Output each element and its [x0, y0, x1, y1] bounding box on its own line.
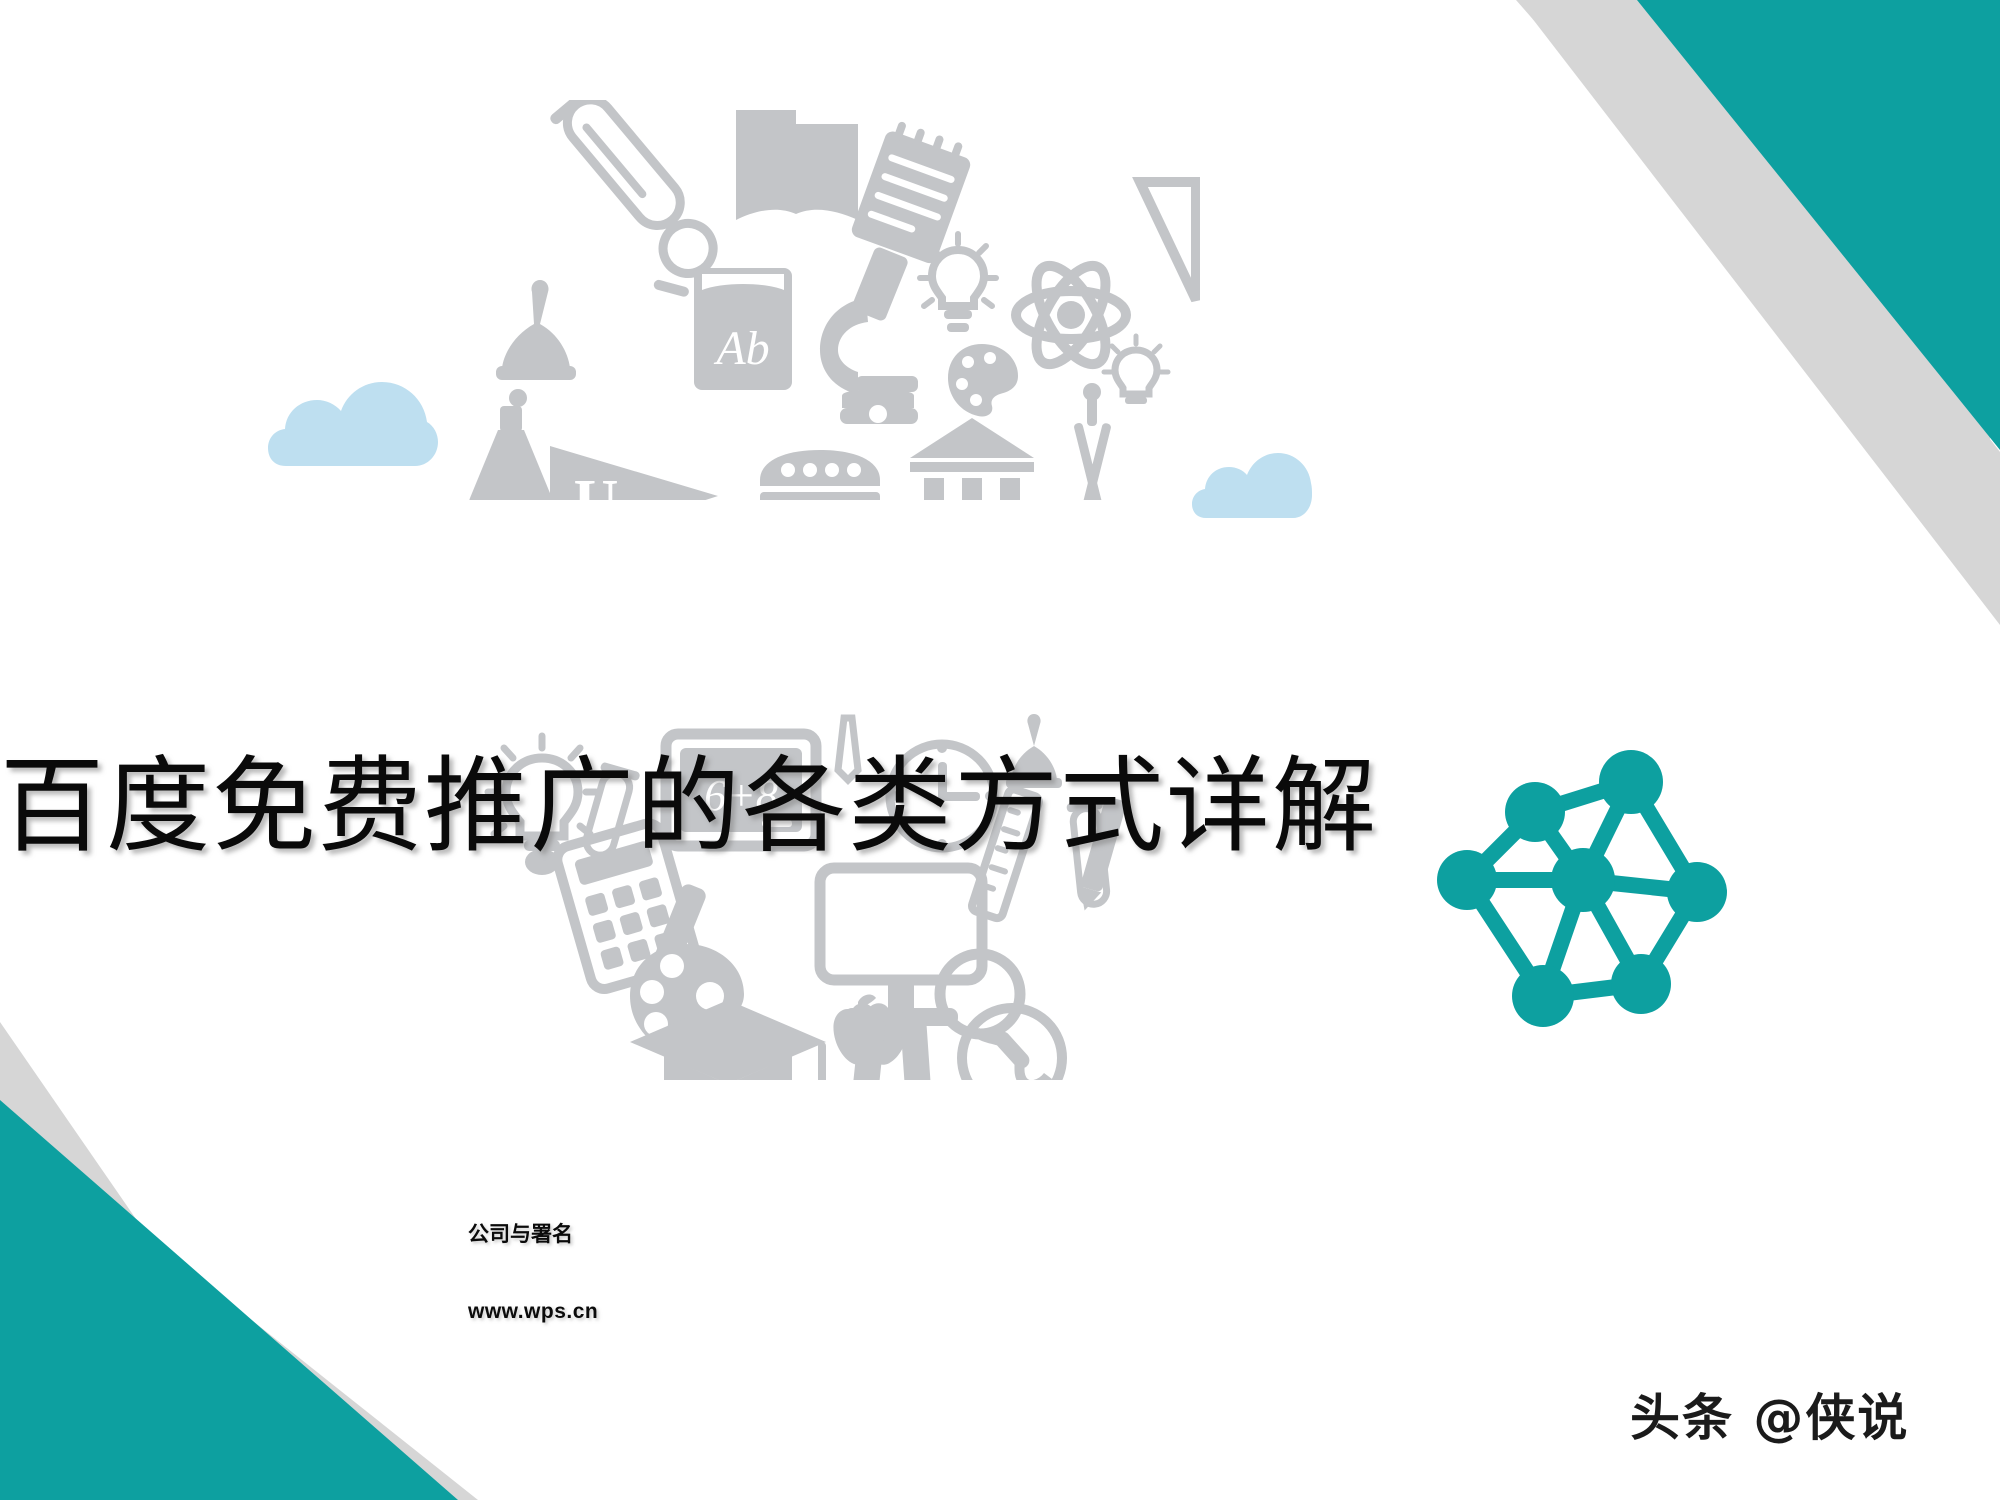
- magnifier-icon: [633, 215, 729, 309]
- website-url: www.wps.cn: [468, 1300, 598, 1324]
- globe-icon: [962, 1008, 1062, 1080]
- compass-icon: [1073, 383, 1112, 500]
- monitor-icon: [820, 868, 982, 1026]
- pennant-flag-icon: U: [550, 446, 718, 500]
- graduation-cap-icon: [630, 1000, 835, 1080]
- education-icons-top-cluster: Ab: [440, 100, 1200, 500]
- apple-icon: [458, 497, 524, 500]
- pen-icon: [642, 882, 708, 996]
- flask-icon: [469, 406, 553, 500]
- test-tube-icon: [548, 100, 694, 239]
- watermark-label: 头条 @侠说: [1630, 1378, 1909, 1450]
- bell-icon: [496, 280, 576, 407]
- notepad-icon: [850, 118, 977, 265]
- pencils-icon: [847, 1016, 935, 1080]
- lightbulb-icon: [920, 234, 996, 332]
- cloud-right-icon: [1192, 450, 1312, 520]
- cloud-left-icon: [268, 378, 438, 468]
- top-right-teal-wedge: [1637, 0, 2000, 450]
- svg-text:U: U: [574, 468, 619, 500]
- page-title: 百度免费推广的各类方式详解: [0, 748, 1290, 868]
- molecule-network-graphic: [1435, 740, 1745, 1040]
- bottom-left-teal-band: [0, 1180, 430, 1500]
- svg-text:Ab: Ab: [713, 322, 769, 375]
- school-bus-icon: [760, 450, 880, 500]
- atom-icon: [1016, 255, 1126, 374]
- magnifier-icon: [940, 954, 1033, 1072]
- bank-building-icon: [910, 418, 1034, 500]
- bottom-left-gray-stripe: [0, 1040, 455, 1500]
- top-right-gray-band: [1518, 0, 2000, 625]
- triangle-ruler-icon: [1140, 182, 1196, 300]
- presentation-slide: Ab: [0, 0, 2000, 1500]
- bottom-left-gray-band: [0, 1022, 478, 1500]
- ab-book-icon: Ab: [694, 268, 792, 390]
- company-signature: 公司与署名: [468, 1218, 573, 1248]
- apple-icon: [833, 995, 907, 1065]
- palette-icon: [948, 344, 1018, 417]
- open-book-icon: [736, 110, 858, 220]
- top-right-gray-stripe: [1516, 0, 1990, 540]
- top-right-teal-band: [1640, 0, 2000, 330]
- lightbulb-icon-right: [1104, 336, 1168, 404]
- palette-icon: [630, 944, 744, 1057]
- bottom-left-teal-wedge: [0, 1100, 458, 1500]
- microscope-icon: [820, 246, 918, 424]
